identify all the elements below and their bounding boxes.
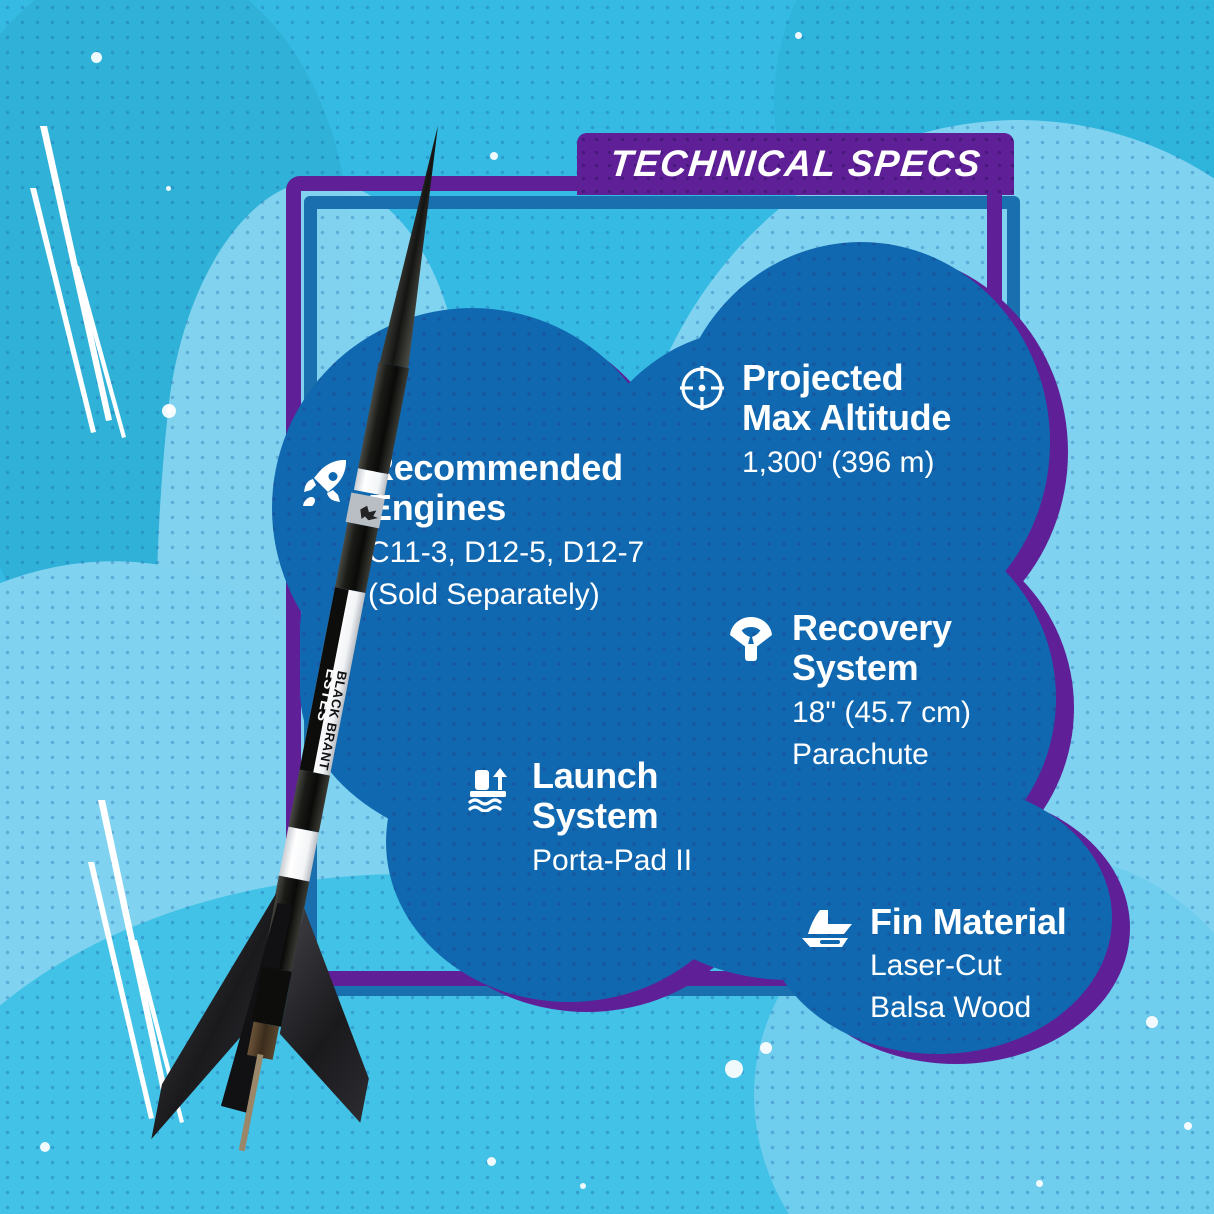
spec-value-line1: Laser-Cut <box>870 948 1066 984</box>
spec-value-line1: 18" (45.7 cm) <box>792 695 971 731</box>
fin-tail-icon <box>798 908 854 959</box>
rocket-white-band <box>279 827 319 882</box>
spec-title-line1: Launch <box>532 756 692 796</box>
spec-text-block: Recovery System 18" (45.7 cm) Parachute <box>792 608 971 773</box>
rocket-body-group: ESTES BLACK BRANT <box>151 110 550 1170</box>
poster-canvas: TECHNICAL SPECS <box>0 0 1214 1214</box>
spec-item-recovery-system[interactable]: Recovery System 18" (45.7 cm) Parachute <box>726 608 971 773</box>
spec-title-line2: System <box>792 648 971 688</box>
rocket-lower-body <box>288 770 329 833</box>
technical-specs-banner: TECHNICAL SPECS <box>577 133 1014 195</box>
spec-text-block: Launch System Porta-Pad II <box>532 756 692 879</box>
spec-item-fin-material[interactable]: Fin Material Laser-Cut Balsa Wood <box>798 902 1066 1026</box>
spec-text-block: Fin Material Laser-Cut Balsa Wood <box>870 902 1066 1026</box>
spec-title-line2: Max Altitude <box>742 398 951 438</box>
rocket-illustration: ESTES BLACK BRANT <box>130 110 550 1170</box>
parachute-icon <box>726 614 776 669</box>
rocket-mid-body <box>335 522 378 593</box>
rocket-upper-body <box>358 362 409 474</box>
spec-value-line1: Porta-Pad II <box>532 843 692 879</box>
spec-title-line1: Recovery <box>792 608 971 648</box>
spec-item-projected-max-altitude[interactable]: Projected Max Altitude 1,300' (396 m) <box>678 358 951 481</box>
spec-value-line2: Balsa Wood <box>870 990 1066 1026</box>
spec-text-block: Projected Max Altitude 1,300' (396 m) <box>742 358 951 481</box>
rocket-nose-cone <box>380 123 455 368</box>
spec-value-line1: 1,300' (396 m) <box>742 445 951 481</box>
spec-title-line1: Fin Material <box>870 902 1066 942</box>
spec-value-line2: Parachute <box>792 737 971 773</box>
banner-title: TECHNICAL SPECS <box>608 143 984 185</box>
crosshair-target-icon <box>678 364 726 417</box>
spec-title-line1: Projected <box>742 358 951 398</box>
spec-title-line2: System <box>532 796 692 836</box>
